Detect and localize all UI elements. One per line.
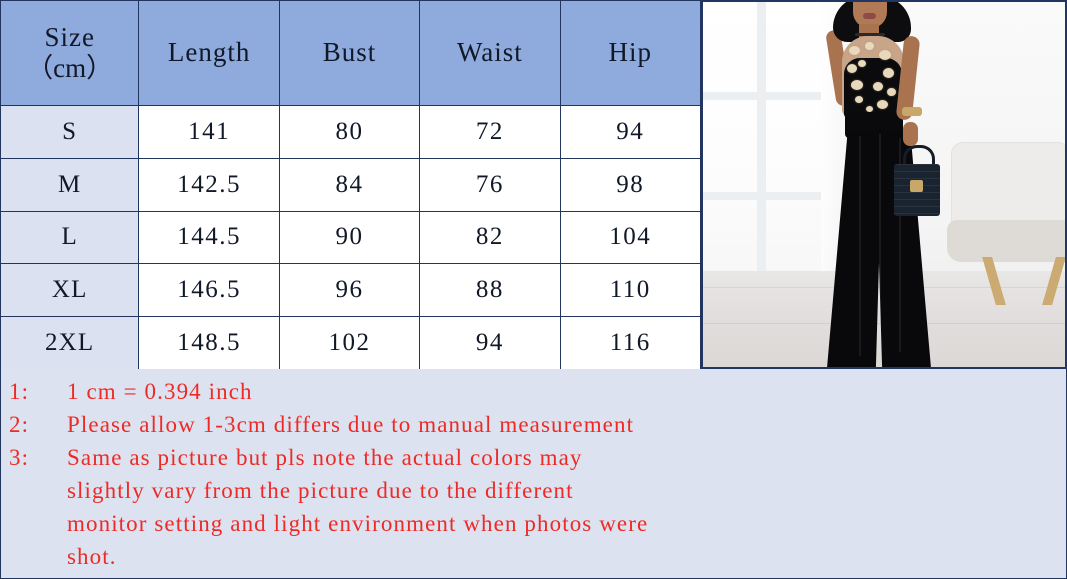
cell-waist-2xl: 94 bbox=[420, 317, 560, 370]
note-number: 1: bbox=[1, 375, 67, 408]
column-header-length: Length bbox=[139, 1, 279, 106]
cell-waist-xl: 88 bbox=[420, 264, 560, 317]
cell-bust-m: 84 bbox=[279, 158, 419, 211]
cell-size-m: M bbox=[1, 158, 139, 211]
top-area: Size （cm） Length Bust Waist Hip S 141 80 bbox=[0, 0, 1067, 369]
size-table: Size （cm） Length Bust Waist Hip S 141 80 bbox=[0, 0, 701, 370]
cell-bust-2xl: 102 bbox=[279, 317, 419, 370]
cell-hip-m: 98 bbox=[560, 158, 700, 211]
cell-waist-m: 76 bbox=[420, 158, 560, 211]
product-photo bbox=[701, 0, 1067, 369]
cell-length-s: 141 bbox=[139, 106, 279, 159]
note-item-continuation: monitor setting and light environment wh… bbox=[1, 507, 1066, 540]
note-item-continuation: slightly vary from the picture due to th… bbox=[1, 474, 1066, 507]
note-text: monitor setting and light environment wh… bbox=[67, 507, 1066, 540]
table-row: 2XL 148.5 102 94 116 bbox=[1, 317, 701, 370]
notes-section: 1: 1 cm = 0.394 inch 2: Please allow 1-3… bbox=[0, 369, 1067, 579]
model-bangle bbox=[902, 107, 922, 116]
cell-hip-l: 104 bbox=[560, 211, 700, 264]
note-text: slightly vary from the picture due to th… bbox=[67, 474, 1066, 507]
cell-hip-s: 94 bbox=[560, 106, 700, 159]
column-header-size-line1: Size bbox=[1, 22, 138, 53]
table-row: L 144.5 90 82 104 bbox=[1, 211, 701, 264]
cell-length-m: 142.5 bbox=[139, 158, 279, 211]
product-photo-scene bbox=[703, 2, 1065, 367]
cell-size-xl: XL bbox=[1, 264, 139, 317]
cell-size-s: S bbox=[1, 106, 139, 159]
cell-hip-xl: 110 bbox=[560, 264, 700, 317]
cell-size-l: L bbox=[1, 211, 139, 264]
table-row: XL 146.5 96 88 110 bbox=[1, 264, 701, 317]
table-body: S 141 80 72 94 M 142.5 84 76 98 L bbox=[1, 106, 701, 370]
model bbox=[811, 2, 1001, 367]
note-text: Please allow 1-3cm differs due to manual… bbox=[67, 408, 1066, 441]
model-right-hand bbox=[903, 122, 918, 146]
note-number: 2: bbox=[1, 408, 67, 441]
note-text: Same as picture but pls note the actual … bbox=[67, 441, 1066, 474]
note-text: shot. bbox=[67, 540, 1066, 573]
header-row: Size （cm） Length Bust Waist Hip bbox=[1, 1, 701, 106]
note-item: 2: Please allow 1-3cm differs due to man… bbox=[1, 408, 1066, 441]
model-lips bbox=[863, 13, 876, 19]
column-header-size-line2: （cm） bbox=[1, 53, 138, 84]
cell-length-xl: 146.5 bbox=[139, 264, 279, 317]
cell-length-l: 144.5 bbox=[139, 211, 279, 264]
note-number: 3: bbox=[1, 441, 67, 474]
window bbox=[703, 2, 821, 296]
cell-hip-2xl: 116 bbox=[560, 317, 700, 370]
column-header-hip: Hip bbox=[560, 1, 700, 106]
cell-waist-l: 82 bbox=[420, 211, 560, 264]
size-table-container: Size （cm） Length Bust Waist Hip S 141 80 bbox=[0, 0, 701, 369]
table-header: Size （cm） Length Bust Waist Hip bbox=[1, 1, 701, 106]
cell-bust-xl: 96 bbox=[279, 264, 419, 317]
cell-bust-l: 90 bbox=[279, 211, 419, 264]
column-header-waist: Waist bbox=[420, 1, 560, 106]
cell-length-2xl: 148.5 bbox=[139, 317, 279, 370]
note-item-continuation: shot. bbox=[1, 540, 1066, 573]
table-row: M 142.5 84 76 98 bbox=[1, 158, 701, 211]
handbag-clasp bbox=[910, 180, 923, 192]
note-item: 3: Same as picture but pls note the actu… bbox=[1, 441, 1066, 474]
table-row: S 141 80 72 94 bbox=[1, 106, 701, 159]
note-text: 1 cm = 0.394 inch bbox=[67, 375, 1066, 408]
size-chart-page: Size （cm） Length Bust Waist Hip S 141 80 bbox=[0, 0, 1067, 579]
note-item: 1: 1 cm = 0.394 inch bbox=[1, 375, 1066, 408]
cell-waist-s: 72 bbox=[420, 106, 560, 159]
cell-size-2xl: 2XL bbox=[1, 317, 139, 370]
column-header-size: Size （cm） bbox=[1, 1, 139, 106]
column-header-bust: Bust bbox=[279, 1, 419, 106]
cell-bust-s: 80 bbox=[279, 106, 419, 159]
